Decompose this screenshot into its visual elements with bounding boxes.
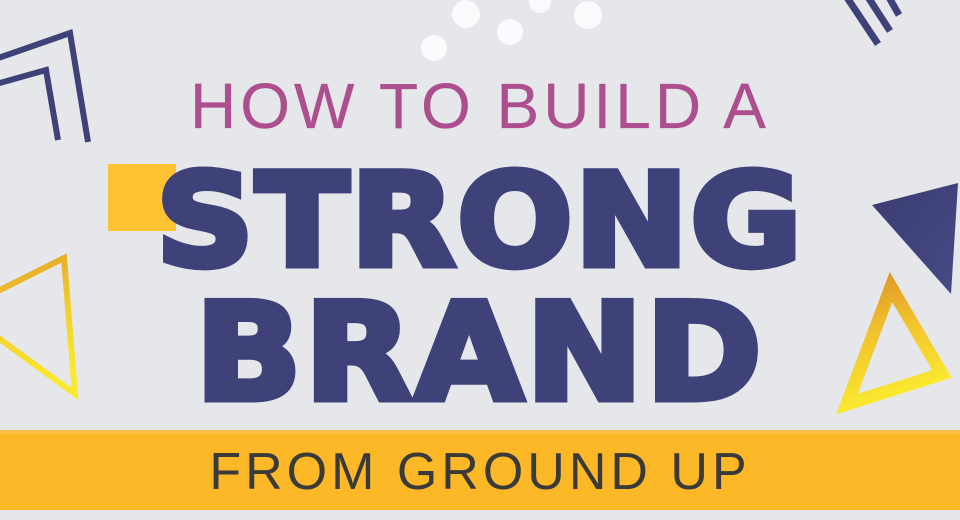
bottom-banner: FROM GROUND UP [0, 430, 960, 510]
headline-block: HOW TO BUILD A STRONG BRAND [0, 0, 960, 430]
banner-subtitle-text: FROM GROUND UP [0, 444, 960, 500]
kicker-text: HOW TO BUILD A [0, 74, 960, 138]
poster-canvas: HOW TO BUILD A STRONG BRAND FROM GROUND … [0, 0, 960, 520]
banner-top-strip [0, 430, 960, 434]
headline-line-brand: BRAND [0, 286, 960, 420]
headline-line-strong: STRONG [0, 158, 960, 286]
